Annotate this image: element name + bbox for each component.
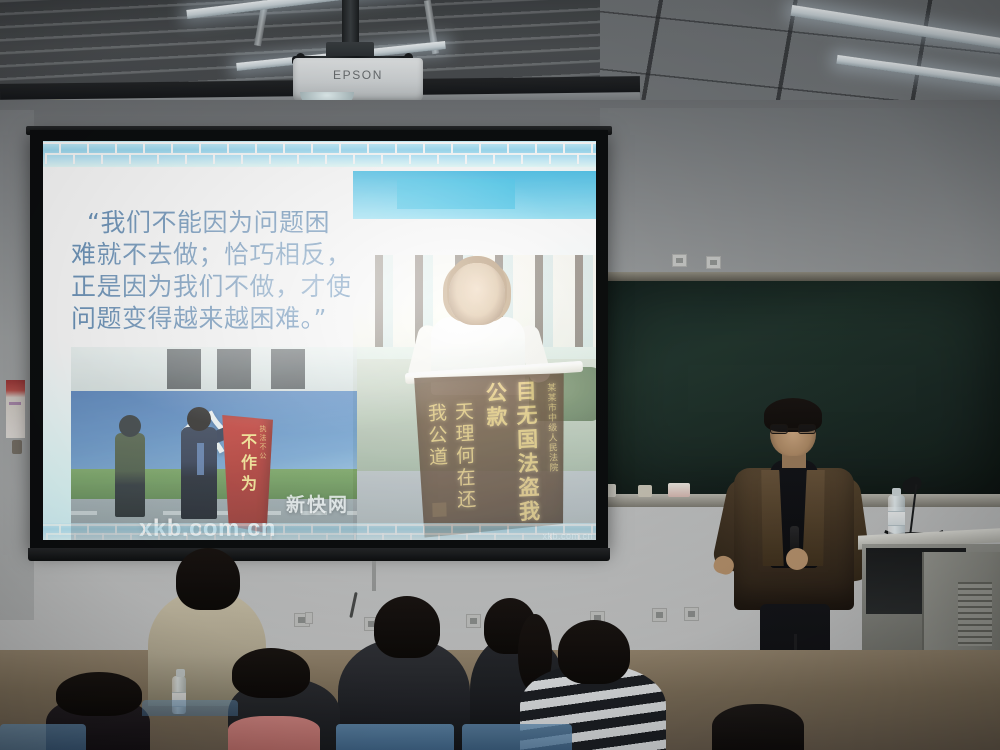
- audience-member-8: [712, 704, 804, 750]
- audience-member-2-head: [374, 596, 440, 658]
- glasses-lens-left: [770, 424, 788, 434]
- chalk-carton[interactable]: [668, 483, 690, 497]
- audience-member-6-head: [56, 672, 142, 716]
- photo-window: [167, 349, 201, 389]
- slide-quote: “我们不能因为问题困 难就不去做；恰巧相反， 正是因为我们不做，才使 问题变得越…: [71, 207, 351, 335]
- audience: [0, 560, 1000, 750]
- slide-photo-right: 某某市中级人民法院 目无国法盗我公款 天理何在还我公道 xkb.com.cn: [353, 171, 596, 540]
- right-wall-upper: [600, 108, 1000, 298]
- slide-photo-left: 公 不作为 执法不公 新快网 xkb.com.cn: [71, 347, 357, 540]
- photo-sky-band: [397, 179, 515, 209]
- bottle-label: [888, 511, 905, 526]
- photo-guard-head: [119, 415, 141, 437]
- audience-member-1-head: [176, 548, 240, 610]
- banner-column-second: 天理何在还我公道: [422, 383, 480, 530]
- slide-surface: 某某市中级人民法院 目无国法盗我公款 天理何在还我公道 xkb.com.cn “…: [43, 141, 596, 540]
- quote-line-4: 问题变得越来越困难。”: [71, 303, 351, 335]
- classroom-scene: EPSON: [0, 0, 1000, 750]
- brick-row: [45, 153, 596, 164]
- glasses-bridge: [788, 428, 798, 430]
- audience-member-7: [228, 716, 320, 750]
- projection-screen: 某某市中级人民法院 目无国法盗我公款 天理何在还我公道 xkb.com.cn “…: [30, 130, 608, 550]
- brick-row: [43, 142, 596, 153]
- photo-upper-wall: [71, 347, 357, 393]
- projector-brand-label: EPSON: [293, 68, 423, 82]
- wall-socket[interactable]: [672, 254, 687, 267]
- eraser[interactable]: [638, 485, 652, 497]
- chair-back[interactable]: [0, 724, 86, 750]
- news-logo-watermark: 新快网: [286, 490, 349, 517]
- audience-member-4-head: [558, 620, 630, 684]
- red-banner-small-text: 执法不公: [257, 425, 267, 461]
- quote-line-3: 正是因为我们不做，才使: [71, 271, 351, 303]
- photo-protest-banner: 某某市中级人民法院 目无国法盗我公款 天理何在还我公道: [411, 370, 571, 538]
- chair-back[interactable]: [462, 724, 572, 750]
- photo-guard-body: [115, 433, 145, 517]
- photo-man-head: [187, 407, 211, 431]
- photo-man-tie: [197, 443, 204, 475]
- wall-hook: [12, 440, 22, 454]
- quote-line-2: 难就不去做；恰巧相反，: [71, 239, 351, 271]
- banner-seal: [432, 502, 446, 517]
- photo-window: [271, 349, 305, 389]
- projector-mount-pole: [342, 0, 359, 48]
- audience-member-5-head: [232, 648, 310, 698]
- banner-column-main: 目无国法盗我公款: [480, 379, 544, 526]
- wall-socket[interactable]: [706, 256, 721, 269]
- glasses-lens-right: [798, 424, 816, 434]
- banner-column-small: 某某市中级人民法院: [544, 378, 561, 523]
- photo-window: [217, 349, 251, 389]
- chair-back[interactable]: [142, 700, 238, 716]
- glasses-icon: [770, 424, 816, 434]
- slide-bottom-border: [43, 523, 596, 540]
- left-wall-strip: [0, 110, 34, 620]
- slide-top-border: [43, 141, 596, 167]
- chair-back[interactable]: [336, 724, 454, 750]
- red-banner-text: 不作为: [235, 433, 259, 496]
- wall-poster: [6, 380, 25, 438]
- quote-line-1: “我们不能因为问题困: [71, 207, 351, 239]
- photo-woman-head: [449, 263, 505, 325]
- brick-row: [46, 533, 596, 540]
